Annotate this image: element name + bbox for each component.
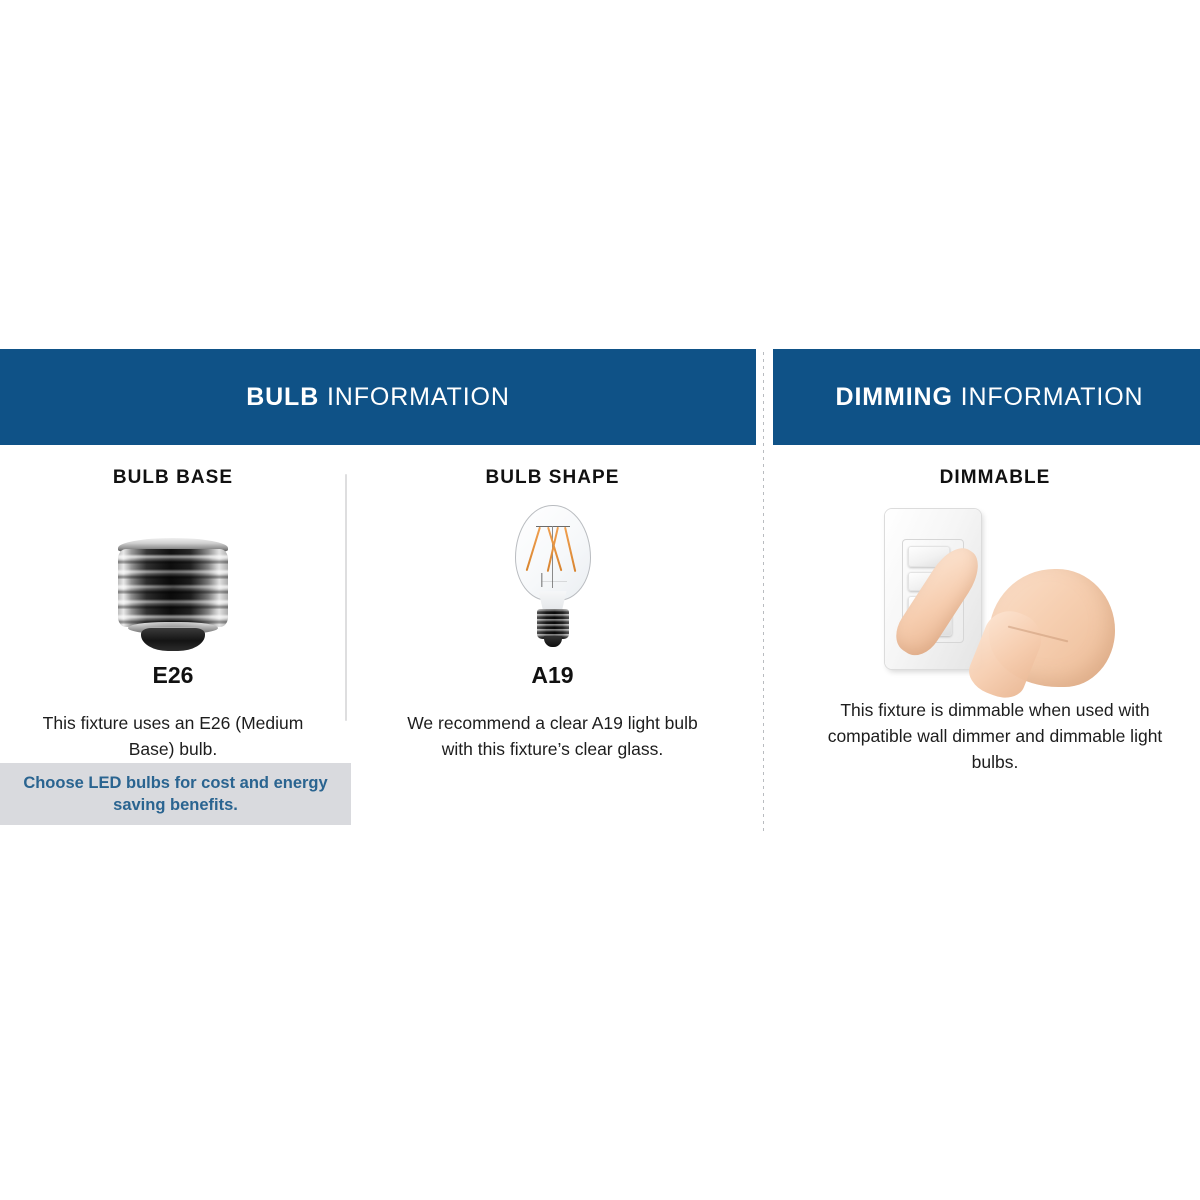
led-tip-text: Choose LED bulbs for cost and energy sav…: [16, 772, 336, 817]
a19-screw-base: [537, 609, 569, 639]
panel-dotted-divider: [763, 352, 764, 835]
wall-dimmer-icon: [875, 503, 1115, 688]
dimming-information-banner: DIMMING INFORMATION: [773, 349, 1200, 445]
dimmable-title: DIMMABLE: [800, 468, 1190, 489]
dimmable-artwork-wrap: [800, 501, 1190, 691]
e26-screw-base-icon: [114, 538, 232, 651]
bulb-base-code: E26: [8, 663, 338, 688]
dimming-banner-rest-word: INFORMATION: [961, 383, 1144, 411]
bulb-base-artwork-wrap: [8, 501, 338, 651]
bulb-banner-rest-word: INFORMATION: [327, 383, 510, 411]
led-tip-callout: Choose LED bulbs for cost and energy sav…: [0, 763, 351, 825]
a19-bulb-icon: [511, 505, 595, 651]
a19-base-tip: [544, 636, 562, 647]
bulb-columns-divider: [345, 474, 347, 721]
bulb-shape-artwork-wrap: [385, 501, 720, 651]
bulb-information-banner: BULB INFORMATION: [0, 349, 756, 445]
dimming-information-banner-title: DIMMING INFORMATION: [836, 385, 1144, 410]
bulb-base-description: This fixture uses an E26 (Medium Base) b…: [23, 710, 323, 763]
dimmable-description: This fixture is dimmable when used with …: [825, 697, 1165, 776]
bulb-shape-code: A19: [385, 663, 720, 688]
bulb-base-column: BULB BASE E26 This fixture uses an E26 (…: [8, 468, 338, 763]
e26-threads: [118, 549, 228, 627]
bulb-base-title: BULB BASE: [8, 468, 338, 489]
bulb-banner-strong-word: BULB: [246, 383, 319, 411]
bulb-shape-title: BULB SHAPE: [385, 468, 720, 489]
bulb-shape-description: We recommend a clear A19 light bulb with…: [393, 710, 713, 763]
pressing-hand-icon: [933, 521, 1115, 691]
page-stage: BULB INFORMATION DIMMING INFORMATION BUL…: [0, 0, 1200, 1200]
a19-brand-mark: [541, 573, 567, 587]
dimmable-column: DIMMABLE This fixture is dimmable when u…: [800, 468, 1190, 776]
bulb-shape-column: BULB SHAPE A19 We recommend a clear A19 …: [385, 468, 720, 763]
bulb-information-banner-title: BULB INFORMATION: [246, 385, 510, 410]
dimming-banner-strong-word: DIMMING: [836, 383, 953, 411]
e26-tip: [141, 628, 205, 651]
